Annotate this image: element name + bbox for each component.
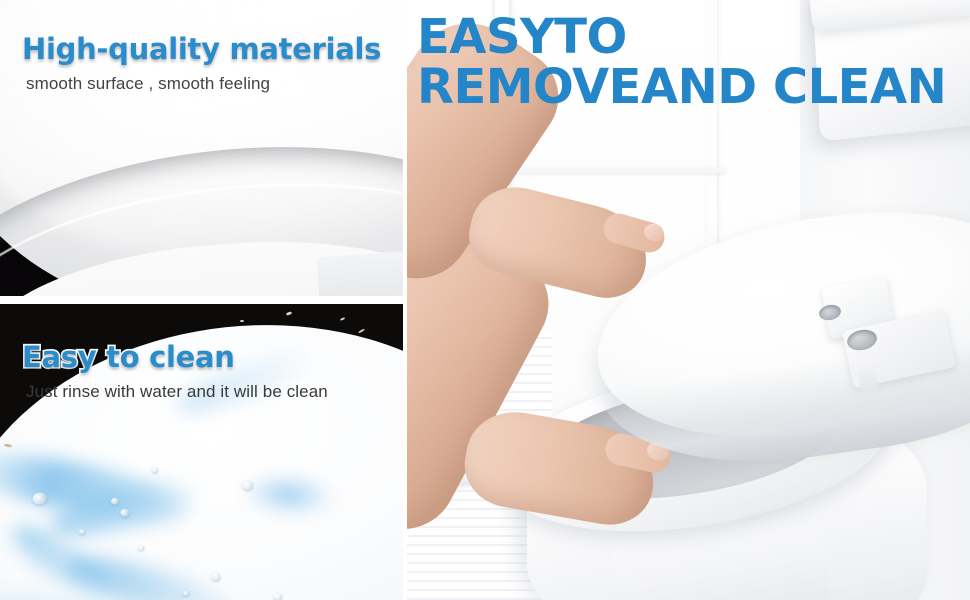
left-column: High-quality materials smooth surface , … xyxy=(0,0,403,600)
water-streak xyxy=(242,474,334,516)
background-speck xyxy=(286,311,293,316)
background-speck xyxy=(340,317,345,321)
panel-high-quality-materials: High-quality materials smooth surface , … xyxy=(0,0,403,296)
panel-easy-to-clean: Easy to clean Just rinse with water and … xyxy=(0,304,403,600)
panel-easy-to-remove-and-clean: EASYTO REMOVEAND CLEAN xyxy=(407,0,970,600)
window-frame-horizontal xyxy=(495,168,725,173)
easy-to-clean-subtitle: Just rinse with water and it will be cle… xyxy=(26,382,328,402)
high-quality-title: High-quality materials xyxy=(22,34,381,65)
water-droplet xyxy=(138,545,144,551)
background-speck xyxy=(240,320,244,322)
easy-to-clean-text-block: Easy to clean Just rinse with water and … xyxy=(22,342,328,402)
water-droplet xyxy=(152,467,158,473)
right-panel-headline: EASYTO REMOVEAND CLEAN xyxy=(417,12,946,113)
easy-to-clean-title: Easy to clean xyxy=(22,342,328,373)
water-droplet xyxy=(211,572,221,581)
product-feature-banner: High-quality materials smooth surface , … xyxy=(0,0,970,600)
background-speck xyxy=(358,328,365,333)
water-droplet xyxy=(274,593,283,600)
high-quality-subtitle: smooth surface , smooth feeling xyxy=(26,74,381,94)
lid-hinge-notch xyxy=(317,251,403,296)
high-quality-text-block: High-quality materials smooth surface , … xyxy=(22,34,381,94)
panel-divider xyxy=(0,296,403,304)
toilet-pedestal xyxy=(613,520,828,600)
